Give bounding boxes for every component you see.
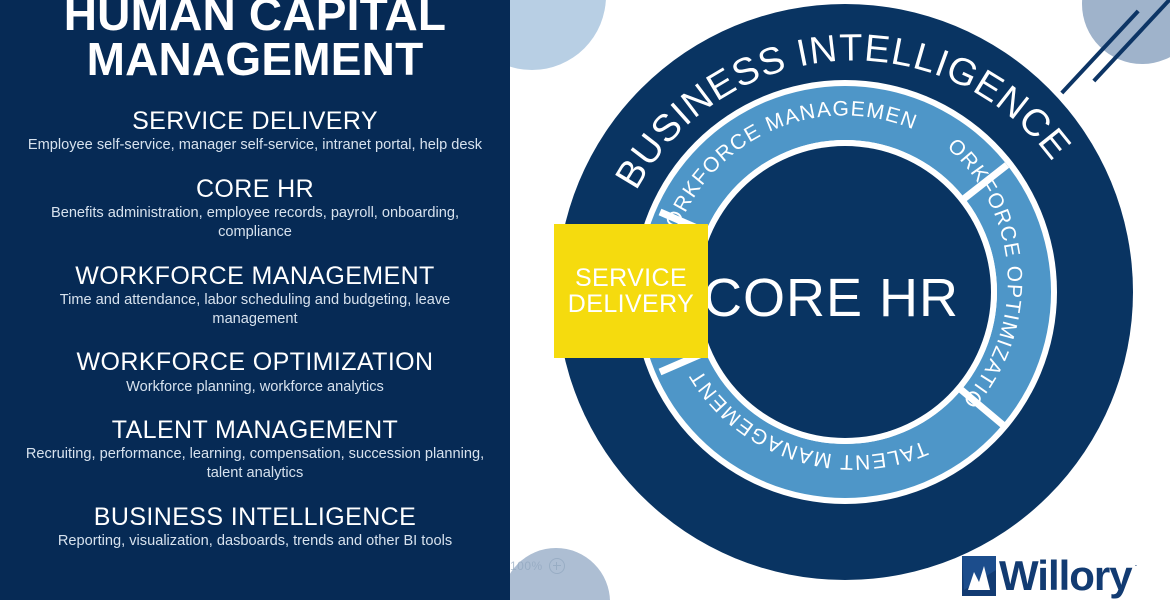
service-delivery-line-1: SERVICE bbox=[575, 265, 687, 291]
section-workforce-management: WORKFORCE MANAGEMENT Time and attendance… bbox=[14, 263, 496, 329]
page-title-line-1: HUMAN CAPITAL bbox=[14, 0, 496, 37]
section-title: BUSINESS INTELLIGENCE bbox=[14, 504, 496, 530]
section-description: Reporting, visualization, dasboards, tre… bbox=[14, 532, 496, 551]
section-service-delivery: SERVICE DELIVERY Employee self-service, … bbox=[14, 108, 496, 155]
core-disc-top bbox=[699, 146, 991, 438]
section-title: TALENT MANAGEMENT bbox=[14, 417, 496, 443]
section-business-intelligence: BUSINESS INTELLIGENCE Reporting, visuali… bbox=[14, 504, 496, 551]
section-description: Recruiting, performance, learning, compe… bbox=[14, 445, 496, 482]
trademark-symbol: ˙ bbox=[1135, 564, 1139, 576]
section-description: Workforce planning, workforce analytics bbox=[14, 378, 496, 397]
willory-logo: Willory ˙ bbox=[962, 556, 1138, 596]
service-delivery-callout: SERVICE DELIVERY bbox=[554, 224, 708, 358]
page-title-line-2: MANAGEMENT bbox=[14, 37, 496, 82]
section-title: SERVICE DELIVERY bbox=[14, 108, 496, 134]
section-description: Benefits administration, employee record… bbox=[14, 204, 496, 241]
service-delivery-line-2: DELIVERY bbox=[568, 291, 694, 317]
section-description: Employee self-service, manager self-serv… bbox=[14, 136, 496, 155]
section-workforce-optimization: WORKFORCE OPTIMIZATION Workforce plannin… bbox=[14, 349, 496, 396]
section-description: Time and attendance, labor scheduling an… bbox=[14, 291, 496, 328]
section-title: WORKFORCE MANAGEMENT bbox=[14, 263, 496, 289]
willory-logo-text: Willory bbox=[999, 556, 1132, 596]
left-content-panel: HUMAN CAPITAL MANAGEMENT SERVICE DELIVER… bbox=[0, 0, 510, 600]
section-title: WORKFORCE OPTIMIZATION bbox=[14, 349, 496, 375]
page-title: HUMAN CAPITAL MANAGEMENT bbox=[14, 0, 496, 82]
diagram-panel: 100% bbox=[510, 0, 1170, 600]
willory-logo-mark bbox=[962, 556, 996, 596]
section-title: CORE HR bbox=[14, 176, 496, 202]
section-core-hr: CORE HR Benefits administration, employe… bbox=[14, 176, 496, 242]
section-list: SERVICE DELIVERY Employee self-service, … bbox=[14, 108, 496, 551]
section-talent-management: TALENT MANAGEMENT Recruiting, performanc… bbox=[14, 417, 496, 483]
infographic-canvas: HUMAN CAPITAL MANAGEMENT SERVICE DELIVER… bbox=[0, 0, 1170, 600]
